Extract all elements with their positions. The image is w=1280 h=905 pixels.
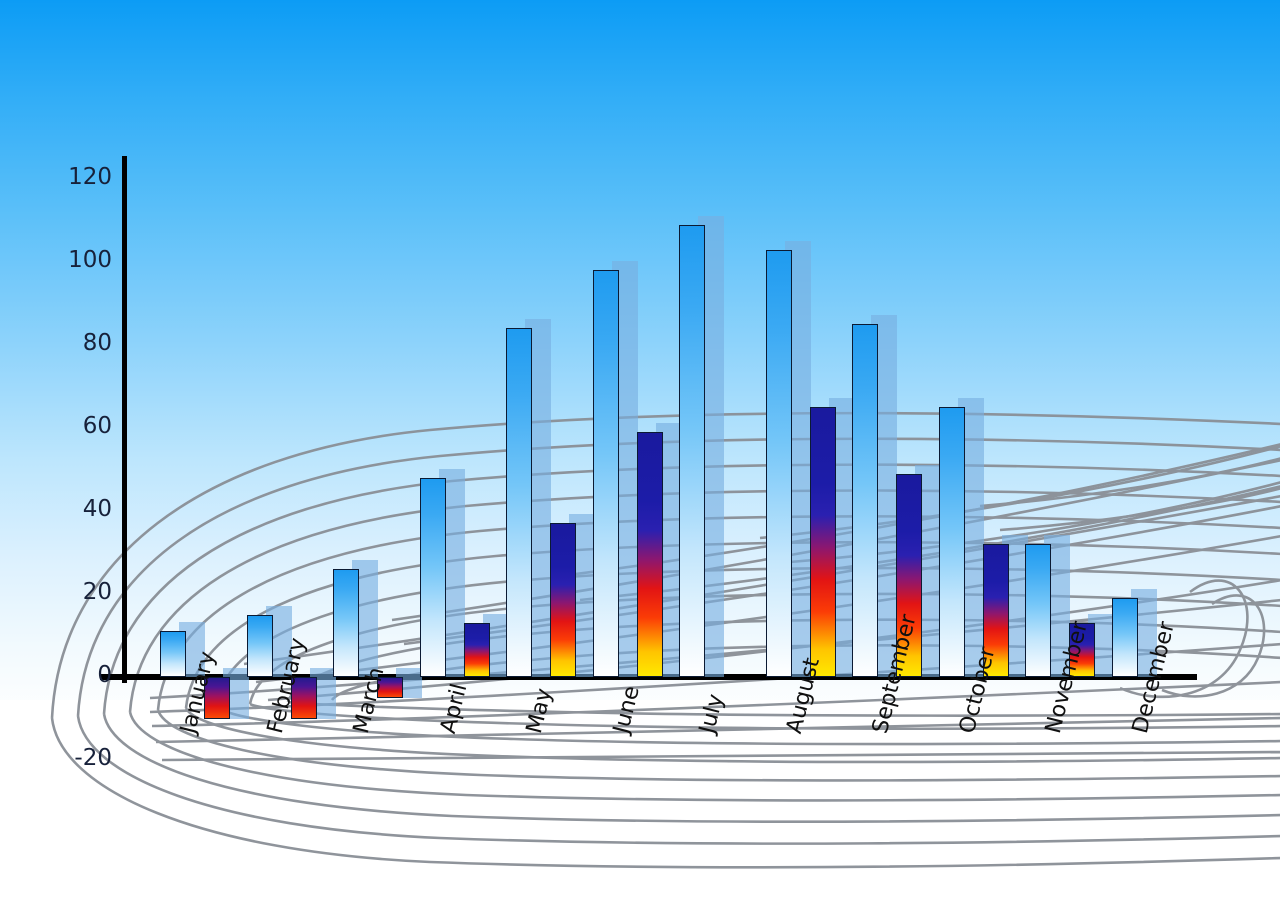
x-axis-label-april: April — [436, 681, 472, 736]
bar-face — [420, 478, 446, 677]
bar-october-series1 — [939, 407, 965, 677]
x-axis-label-may: May — [522, 686, 557, 736]
bar-january-series1 — [160, 631, 186, 677]
bar-august-series1 — [766, 250, 792, 677]
bar-face — [766, 250, 792, 677]
bar-november-series1 — [1025, 544, 1051, 677]
bar-face — [160, 631, 186, 677]
y-tick-mark — [116, 675, 134, 679]
y-tick-label: 80 — [52, 330, 112, 356]
bar-face — [333, 569, 359, 677]
y-tick-label: 20 — [52, 579, 112, 605]
bar-face — [939, 407, 965, 677]
y-tick-label: 40 — [52, 496, 112, 522]
y-tick-label: 120 — [52, 164, 112, 190]
x-axis-label-june: June — [609, 684, 645, 737]
bar-september-series1 — [852, 324, 878, 677]
y-tick-label: 100 — [52, 247, 112, 273]
y-tick-label: -20 — [52, 745, 112, 771]
bar-june-series1 — [593, 270, 619, 677]
bar-june-series2 — [637, 432, 663, 677]
bar-december-series1 — [1112, 598, 1138, 677]
bar-may-series1 — [506, 328, 532, 677]
bar-july-series1 — [679, 225, 705, 677]
y-tick-label: 0 — [52, 662, 112, 688]
bar-face — [506, 328, 532, 677]
bar-face — [637, 432, 663, 677]
plot-area: -20020406080100120JanuaryFebruaryMarchAp… — [0, 0, 1280, 905]
x-axis-label-july: July — [695, 692, 729, 736]
bar-april-series2 — [464, 623, 490, 677]
bar-face — [1025, 544, 1051, 677]
bar-face — [464, 623, 490, 677]
bar-face — [679, 225, 705, 677]
bar-august-series2 — [810, 407, 836, 677]
bar-may-series2 — [550, 523, 576, 677]
y-axis — [122, 156, 127, 683]
bar-face — [810, 407, 836, 677]
bar-face — [550, 523, 576, 677]
bar-face — [1112, 598, 1138, 677]
bar-march-series1 — [333, 569, 359, 677]
chart-root: -20020406080100120JanuaryFebruaryMarchAp… — [0, 0, 1280, 905]
bar-april-series1 — [420, 478, 446, 677]
bar-face — [247, 615, 273, 677]
bar-february-series1 — [247, 615, 273, 677]
bar-face — [593, 270, 619, 677]
y-tick-label: 60 — [52, 413, 112, 439]
bar-face — [852, 324, 878, 677]
